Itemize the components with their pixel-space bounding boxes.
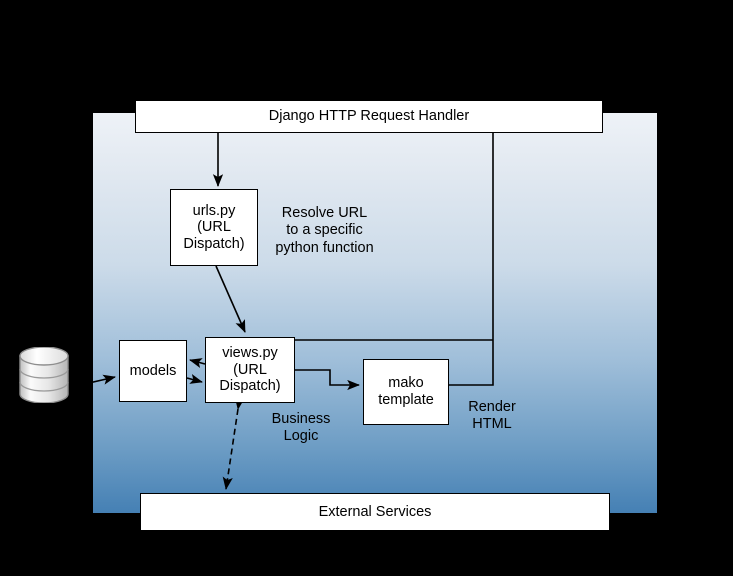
node-mako-template[interactable]: mako template bbox=[363, 359, 449, 425]
node-label: mako template bbox=[378, 375, 434, 408]
node-external-services[interactable]: External Services bbox=[140, 493, 610, 531]
annotation-render-html: Render HTML bbox=[457, 399, 527, 434]
node-views-py[interactable]: views.py (URL Dispatch) bbox=[205, 337, 295, 403]
node-label: External Services bbox=[319, 504, 432, 521]
node-label: urls.py (URL Dispatch) bbox=[183, 203, 244, 253]
node-label: Django HTTP Request Handler bbox=[269, 108, 469, 125]
gradient-panel bbox=[93, 113, 657, 513]
diagram-canvas: Django HTTP Request Handler urls.py (URL… bbox=[0, 0, 733, 576]
node-label: views.py (URL Dispatch) bbox=[219, 345, 280, 395]
database-cylinder-icon bbox=[18, 347, 70, 403]
node-django-http-request-handler[interactable]: Django HTTP Request Handler bbox=[135, 100, 603, 133]
annotation-resolve-url: Resolve URL to a specific python functio… bbox=[262, 205, 387, 257]
node-urls-py[interactable]: urls.py (URL Dispatch) bbox=[170, 189, 258, 266]
node-label: models bbox=[130, 363, 177, 380]
node-models[interactable]: models bbox=[119, 340, 187, 402]
annotation-business-logic: Business Logic bbox=[258, 411, 344, 446]
